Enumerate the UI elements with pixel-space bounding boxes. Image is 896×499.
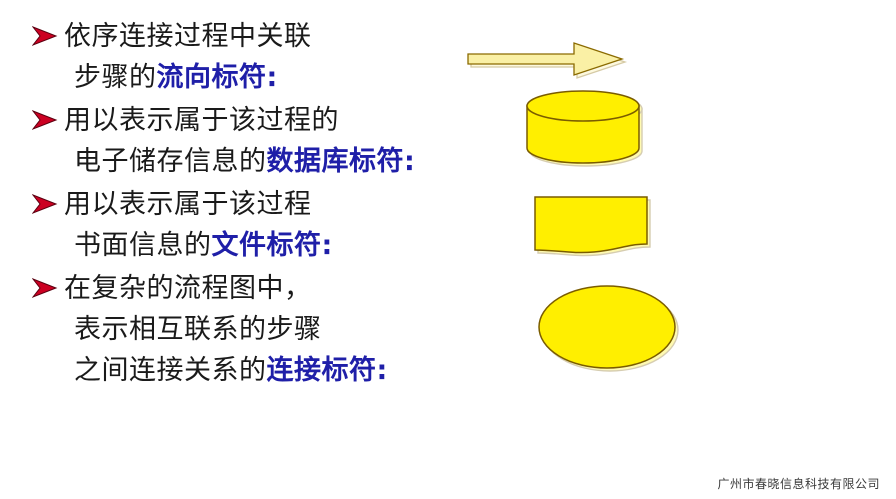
- bullet-text: 之间连接关系的: [74, 355, 267, 386]
- list-item: 用以表示属于该过程 书面信息的文件标符:: [30, 184, 500, 266]
- document-symbol: [532, 194, 654, 260]
- list-item: 用以表示属于该过程的 电子储存信息的数据库标符:: [30, 100, 500, 182]
- arrowhead-bullet-icon: [32, 277, 58, 299]
- bullet-line: 依序连接过程中关联: [64, 16, 500, 57]
- bullet-text: 用以表示属于该过程: [64, 189, 312, 220]
- connector-ellipse-symbol: [536, 282, 684, 372]
- bullet-text: 书面信息的: [74, 230, 212, 261]
- bullet-list: 依序连接过程中关联 步骤的流向标符: 用以表示属于该过程的 电子储存信息的数据库…: [30, 16, 500, 393]
- arrowhead-bullet-icon: [32, 25, 58, 47]
- list-item: 依序连接过程中关联 步骤的流向标符:: [30, 16, 500, 98]
- bullet-keyword: 流向标符: [157, 62, 267, 93]
- arrowhead-bullet-icon: [32, 193, 58, 215]
- bullet-keyword: 文件标符: [212, 230, 322, 261]
- bullet-text: 电子储存信息的: [74, 146, 267, 177]
- bullet-line: 电子储存信息的数据库标符:: [64, 141, 500, 182]
- bullet-line: 用以表示属于该过程的: [64, 100, 500, 141]
- bullet-line: 表示相互联系的步骤: [64, 309, 500, 350]
- bullet-text: 在复杂的流程图中，: [64, 273, 312, 304]
- bullet-colon: :: [267, 62, 278, 93]
- arrowhead-bullet-icon: [32, 109, 58, 131]
- bullet-colon: :: [404, 146, 415, 177]
- footer-credit: 广州市春晓信息科技有限公司: [717, 475, 880, 492]
- list-item: 在复杂的流程图中， 表示相互联系的步骤 之间连接关系的连接标符:: [30, 268, 500, 391]
- bullet-keyword: 数据库标符: [267, 146, 405, 177]
- bullet-text: 用以表示属于该过程的: [64, 105, 339, 136]
- bullet-line: 在复杂的流程图中，: [64, 268, 500, 309]
- bullet-keyword: 连接标符: [267, 355, 377, 386]
- bullet-line: 步骤的流向标符:: [64, 57, 500, 98]
- slide-canvas: 依序连接过程中关联 步骤的流向标符: 用以表示属于该过程的 电子储存信息的数据库…: [0, 0, 896, 499]
- database-cylinder-symbol: [524, 90, 648, 166]
- flow-arrow-symbol: [466, 38, 626, 80]
- bullet-line: 书面信息的文件标符:: [64, 225, 500, 266]
- bullet-line: 之间连接关系的连接标符:: [64, 350, 500, 391]
- bullet-text: 依序连接过程中关联: [64, 21, 312, 52]
- bullet-line: 用以表示属于该过程: [64, 184, 500, 225]
- bullet-colon: :: [322, 230, 333, 261]
- bullet-colon: :: [377, 355, 388, 386]
- bullet-text: 步骤的: [74, 62, 157, 93]
- bullet-text: 表示相互联系的步骤: [74, 314, 322, 345]
